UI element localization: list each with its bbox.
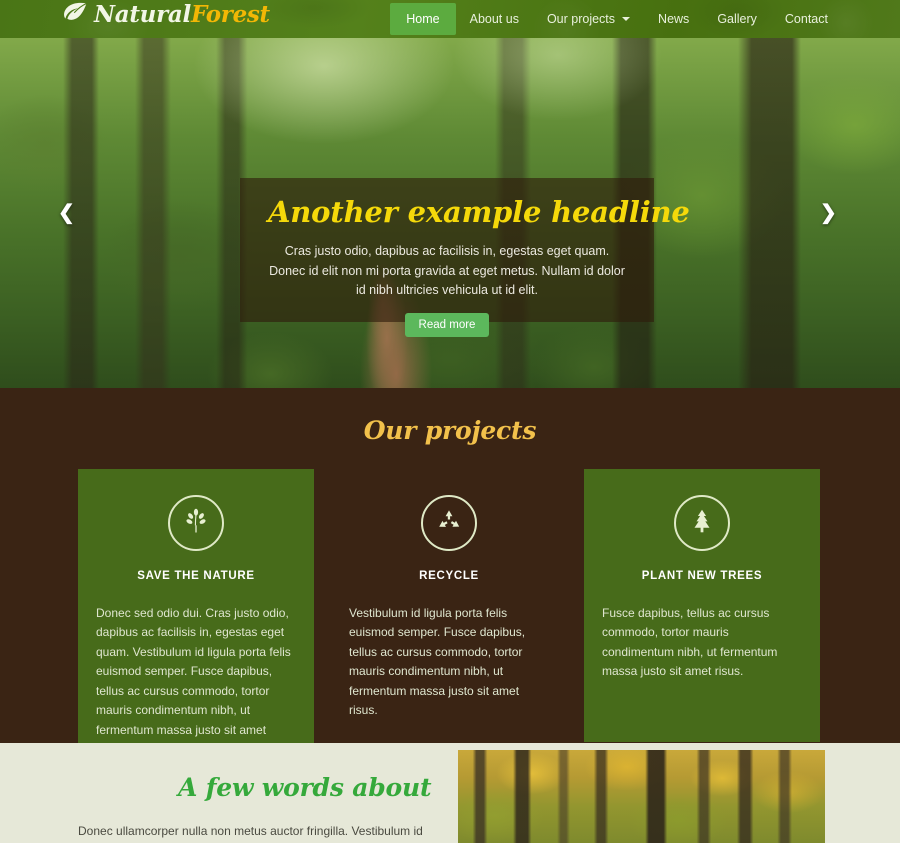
leaf-branch-icon — [183, 508, 209, 539]
project-card-title-2: RECYCLE — [349, 570, 549, 582]
nav-label-about-us: About us — [470, 13, 519, 26]
hero-headline: Another example headline — [268, 196, 626, 229]
read-more-button[interactable]: Read more — [405, 313, 490, 337]
project-card-title-1: SAVE THE NATURE — [96, 570, 296, 582]
recycle-icon — [436, 508, 462, 539]
nav-label-home: Home — [406, 13, 439, 26]
project-card-plant-new-trees[interactable]: PLANT NEW TREES Fusce dapibus, tellus ac… — [584, 469, 820, 742]
pine-tree-icon — [689, 508, 715, 539]
page-root: NaturalForest Home About us Our projects… — [0, 0, 900, 843]
project-card-save-the-nature[interactable]: SAVE THE NATURE Donec sed odio dui. Cras… — [78, 469, 314, 780]
site-logo[interactable]: NaturalForest — [62, 2, 270, 27]
hero-carousel: ❮ ❯ Another example headline Cras justo … — [0, 38, 900, 388]
main-navigation: Home About us Our projects News Gallery … — [390, 0, 842, 38]
logo-word-2: Forest — [191, 1, 270, 28]
hero-caption: Another example headline Cras justo odio… — [240, 178, 654, 322]
nav-label-gallery: Gallery — [717, 13, 757, 26]
chevron-right-icon[interactable]: ❯ — [820, 203, 837, 223]
icon-circle-3 — [674, 495, 730, 551]
chevron-down-icon — [622, 17, 630, 21]
projects-section: Our projects — [0, 388, 900, 743]
site-header: NaturalForest Home About us Our projects… — [0, 0, 900, 38]
autumn-forest-photo — [458, 750, 825, 843]
nav-item-home[interactable]: Home — [390, 3, 455, 36]
projects-card-list: SAVE THE NATURE Donec sed odio dui. Cras… — [0, 469, 900, 780]
icon-circle-2 — [421, 495, 477, 551]
project-card-text-2: Vestibulum id ligula porta felis euismod… — [349, 604, 549, 721]
logo-word-1: Natural — [94, 1, 191, 28]
hero-subtitle: Cras justo odio, dapibus ac facilisis in… — [268, 242, 626, 300]
nav-item-our-projects[interactable]: Our projects — [533, 6, 644, 33]
icon-circle-1 — [168, 495, 224, 551]
project-card-recycle[interactable]: RECYCLE Vestibulum id ligula porta felis… — [331, 469, 567, 742]
nav-item-gallery[interactable]: Gallery — [703, 6, 771, 33]
about-section-text: Donec ullamcorper nulla non metus auctor… — [78, 822, 448, 843]
chevron-left-icon[interactable]: ❮ — [58, 203, 75, 223]
nav-item-contact[interactable]: Contact — [771, 6, 842, 33]
projects-section-title: Our projects — [0, 416, 900, 445]
about-section-title: A few words about — [178, 773, 431, 802]
project-card-text-3: Fusce dapibus, tellus ac cursus commodo,… — [602, 604, 802, 682]
nav-label-our-projects: Our projects — [547, 13, 615, 26]
project-card-title-3: PLANT NEW TREES — [602, 570, 802, 582]
nav-item-news[interactable]: News — [644, 6, 703, 33]
leaf-icon — [62, 2, 88, 27]
nav-label-news: News — [658, 13, 689, 26]
logo-text: NaturalForest — [94, 3, 270, 26]
nav-item-about-us[interactable]: About us — [456, 6, 533, 33]
nav-label-contact: Contact — [785, 13, 828, 26]
project-card-text-1: Donec sed odio dui. Cras justo odio, dap… — [96, 604, 296, 760]
